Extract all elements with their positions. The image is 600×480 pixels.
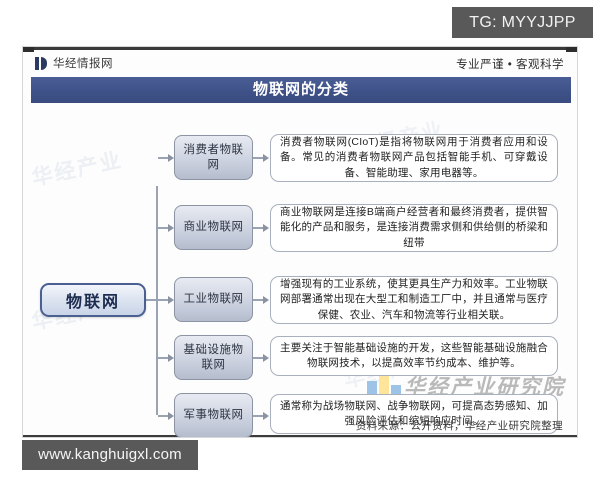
detail-arrow-icon xyxy=(263,412,269,420)
brand-name: 华经情报网 xyxy=(53,55,113,71)
category-node-commercial-iot: 商业物联网 xyxy=(174,205,253,250)
description-commercial-iot: 商业物联网是连接B端商户经营者和最终消费者，提供智能化的产品和服务，是连接消费需… xyxy=(270,204,558,252)
category-node-infrastructure-iot: 基础设施物联网 xyxy=(174,335,253,380)
source-note: 资料来源：公开资料，华经产业研究院整理 xyxy=(356,418,563,433)
root-stub-connector xyxy=(146,299,158,301)
detail-arrow-icon xyxy=(263,296,269,304)
category-node-military-iot: 军事物联网 xyxy=(174,393,253,438)
huajing-logo-icon xyxy=(35,57,48,70)
tg-overlay-badge: TG: MYYJJPP xyxy=(452,7,593,38)
brand-lockup: 华经情报网 xyxy=(35,55,113,71)
site-overlay-badge: www.kanghuigxl.com xyxy=(22,440,198,470)
description-industrial-iot: 增强现有的工业系统，使其更具生产力和效率。工业物联网部署通常出现在大型工和制造工… xyxy=(270,276,558,324)
report-card: 华经情报网 专业严谨 • 客观科学 物联网的分类 华经产业 华经产业 华经产业 … xyxy=(22,46,578,438)
category-node-industrial-iot: 工业物联网 xyxy=(174,277,253,322)
background-watermark: 华经产业 xyxy=(29,144,125,192)
detail-arrow-icon xyxy=(263,354,269,362)
description-infrastructure-iot: 主要关注于智能基础设施的开发，这些智能基础设施融合物联网技术，以提高效率节约成本… xyxy=(270,336,558,376)
card-bottom-rule xyxy=(23,435,577,437)
detail-arrow-icon xyxy=(263,224,269,232)
brand-row: 华经情报网 专业严谨 • 客观科学 xyxy=(23,50,577,76)
screenshot-root: TG: MYYJJPP 华经情报网 专业严谨 • 客观科学 物联网的分类 华经产… xyxy=(0,0,600,480)
description-consumer-iot: 消费者物联网(CIoT)是指将物联网用于消费者应用和设备。常见的消费者物联网产品… xyxy=(270,134,558,182)
diagram-area: 华经产业 华经产业 华经产业 华经产业 物联网 xyxy=(23,105,577,438)
category-node-consumer-iot: 消费者物联网 xyxy=(174,135,253,180)
root-node-iot: 物联网 xyxy=(40,283,146,317)
brand-tagline: 专业严谨 • 客观科学 xyxy=(456,56,564,72)
detail-arrow-icon xyxy=(263,154,269,162)
page-title: 物联网的分类 xyxy=(31,77,571,103)
